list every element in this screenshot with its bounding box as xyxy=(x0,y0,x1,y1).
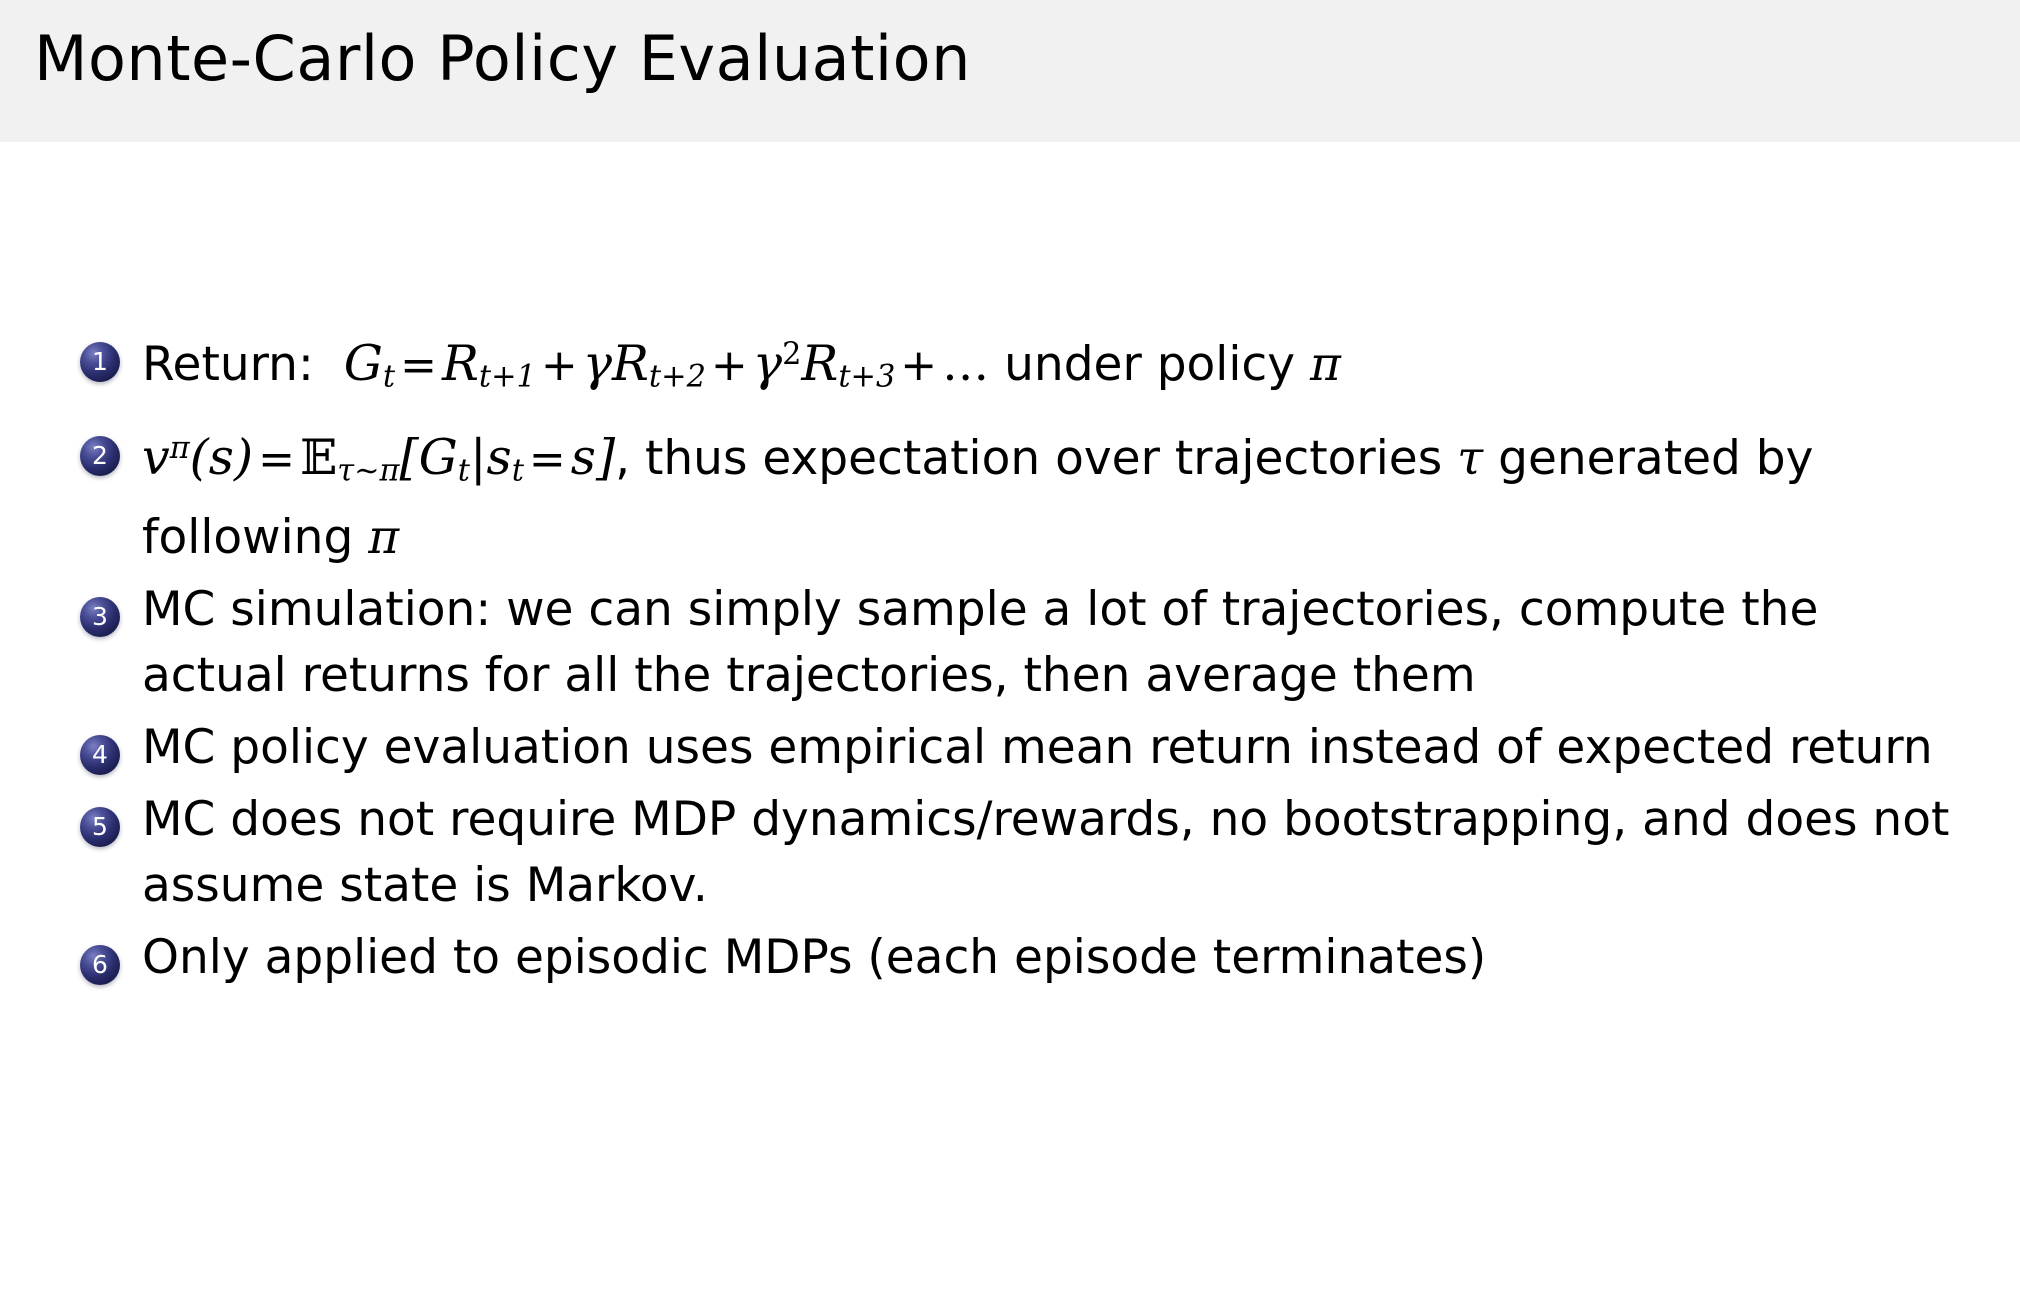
subscript-t-plus-2: t+2 xyxy=(649,359,706,394)
list-item-line: MC policy evaluation uses empirical mean… xyxy=(142,720,1774,775)
list-item-line: MC does not require MDP dynamics/rewards… xyxy=(142,792,1731,847)
subscript-tau-sim-pi: τ∼π xyxy=(337,454,399,489)
comma: , xyxy=(615,431,630,486)
symbol-tau: τ xyxy=(1457,431,1483,486)
plus-sign-2: + xyxy=(706,340,753,391)
list-item-line: MC simulation: we can simply sample a lo… xyxy=(142,582,1726,637)
symbol-G: G xyxy=(344,335,383,392)
symbol-gamma-2: γ xyxy=(753,335,782,392)
return-label: Return: xyxy=(142,337,314,392)
symbol-s: s xyxy=(209,429,234,486)
under-policy-label: under policy xyxy=(1004,337,1295,392)
subscript-t: t xyxy=(458,454,470,489)
subscript-t-plus-1: t+1 xyxy=(479,359,536,394)
subscript-t-plus-3: t+3 xyxy=(838,359,895,394)
list-item-text: MC policy evaluation uses empirical mean… xyxy=(142,715,1960,781)
list-item: 6 Only applied to episodic MDPs (each ep… xyxy=(80,925,1960,991)
list-item: 1 Return: Gt=Rt+1+γRt+2+γ2Rt+3+… under p… xyxy=(80,322,1960,410)
bullet-number-label: 6 xyxy=(80,945,120,985)
bullet-number-marker: 6 xyxy=(80,945,120,985)
bullet-number-marker: 5 xyxy=(80,807,120,847)
list-item-text: vπ(s)=𝔼τ∼π[Gt|st=s], thus expectation ov… xyxy=(142,416,1960,570)
ellipsis: … xyxy=(942,337,989,392)
symbol-v: v xyxy=(142,429,170,486)
conditional-bar: | xyxy=(470,429,487,486)
equals-sign: = xyxy=(253,434,300,485)
bracket-close: ] xyxy=(596,429,615,486)
bullet-number-label: 3 xyxy=(80,597,120,637)
symbol-pi: π xyxy=(1310,337,1341,392)
bracket-open: [ xyxy=(400,429,419,486)
slide-title-bar: Monte-Carlo Policy Evaluation xyxy=(0,0,2020,142)
equals-sign-2: = xyxy=(524,434,571,485)
bullet-list: 1 Return: Gt=Rt+1+γRt+2+γ2Rt+3+… under p… xyxy=(80,322,1960,997)
plus-sign-1: + xyxy=(536,340,583,391)
symbol-expectation: 𝔼 xyxy=(300,429,337,486)
plus-sign-3: + xyxy=(895,340,942,391)
bullet-number-marker: 2 xyxy=(80,436,120,476)
list-item-line: Only applied to episodic MDPs (each epis… xyxy=(142,930,1486,985)
list-item-line: return xyxy=(1789,720,1933,775)
expectation-description: thus expectation over trajectories xyxy=(645,431,1442,486)
symbol-R3: R xyxy=(801,335,838,392)
symbol-s-state: s xyxy=(487,429,512,486)
bullet-number-label: 5 xyxy=(80,807,120,847)
paren-open: ( xyxy=(190,429,209,486)
symbol-G: G xyxy=(419,429,458,486)
list-item-text: Return: Gt=Rt+1+γRt+2+γ2Rt+3+… under pol… xyxy=(142,322,1960,410)
symbol-pi: π xyxy=(368,510,399,565)
page-title: Monte-Carlo Policy Evaluation xyxy=(34,22,971,95)
list-item-text: MC does not require MDP dynamics/rewards… xyxy=(142,787,1960,919)
superscript-2: 2 xyxy=(782,337,801,372)
list-item: 3 MC simulation: we can simply sample a … xyxy=(80,577,1960,709)
list-item: 2 vπ(s)=𝔼τ∼π[Gt|st=s], thus expectation … xyxy=(80,416,1960,570)
bullet-number-marker: 3 xyxy=(80,597,120,637)
symbol-R2: R xyxy=(612,335,649,392)
equals-sign: = xyxy=(395,340,442,391)
slide: Monte-Carlo Policy Evaluation 1 Return: … xyxy=(0,0,2020,1304)
bullet-number-label: 1 xyxy=(80,342,120,382)
subscript-t-2: t xyxy=(512,454,524,489)
subscript-t: t xyxy=(383,359,395,394)
list-item-text: Only applied to episodic MDPs (each epis… xyxy=(142,925,1960,991)
symbol-s-value: s xyxy=(571,429,596,486)
bullet-number-marker: 1 xyxy=(80,342,120,382)
bullet-number-label: 4 xyxy=(80,735,120,775)
symbol-gamma-1: γ xyxy=(583,335,612,392)
list-item: 4 MC policy evaluation uses empirical me… xyxy=(80,715,1960,781)
list-item: 5 MC does not require MDP dynamics/rewar… xyxy=(80,787,1960,919)
paren-close: ) xyxy=(234,429,253,486)
symbol-R1: R xyxy=(442,335,479,392)
list-item-text: MC simulation: we can simply sample a lo… xyxy=(142,577,1960,709)
bullet-number-marker: 4 xyxy=(80,735,120,775)
bullet-number-label: 2 xyxy=(80,436,120,476)
superscript-pi: π xyxy=(170,431,190,466)
